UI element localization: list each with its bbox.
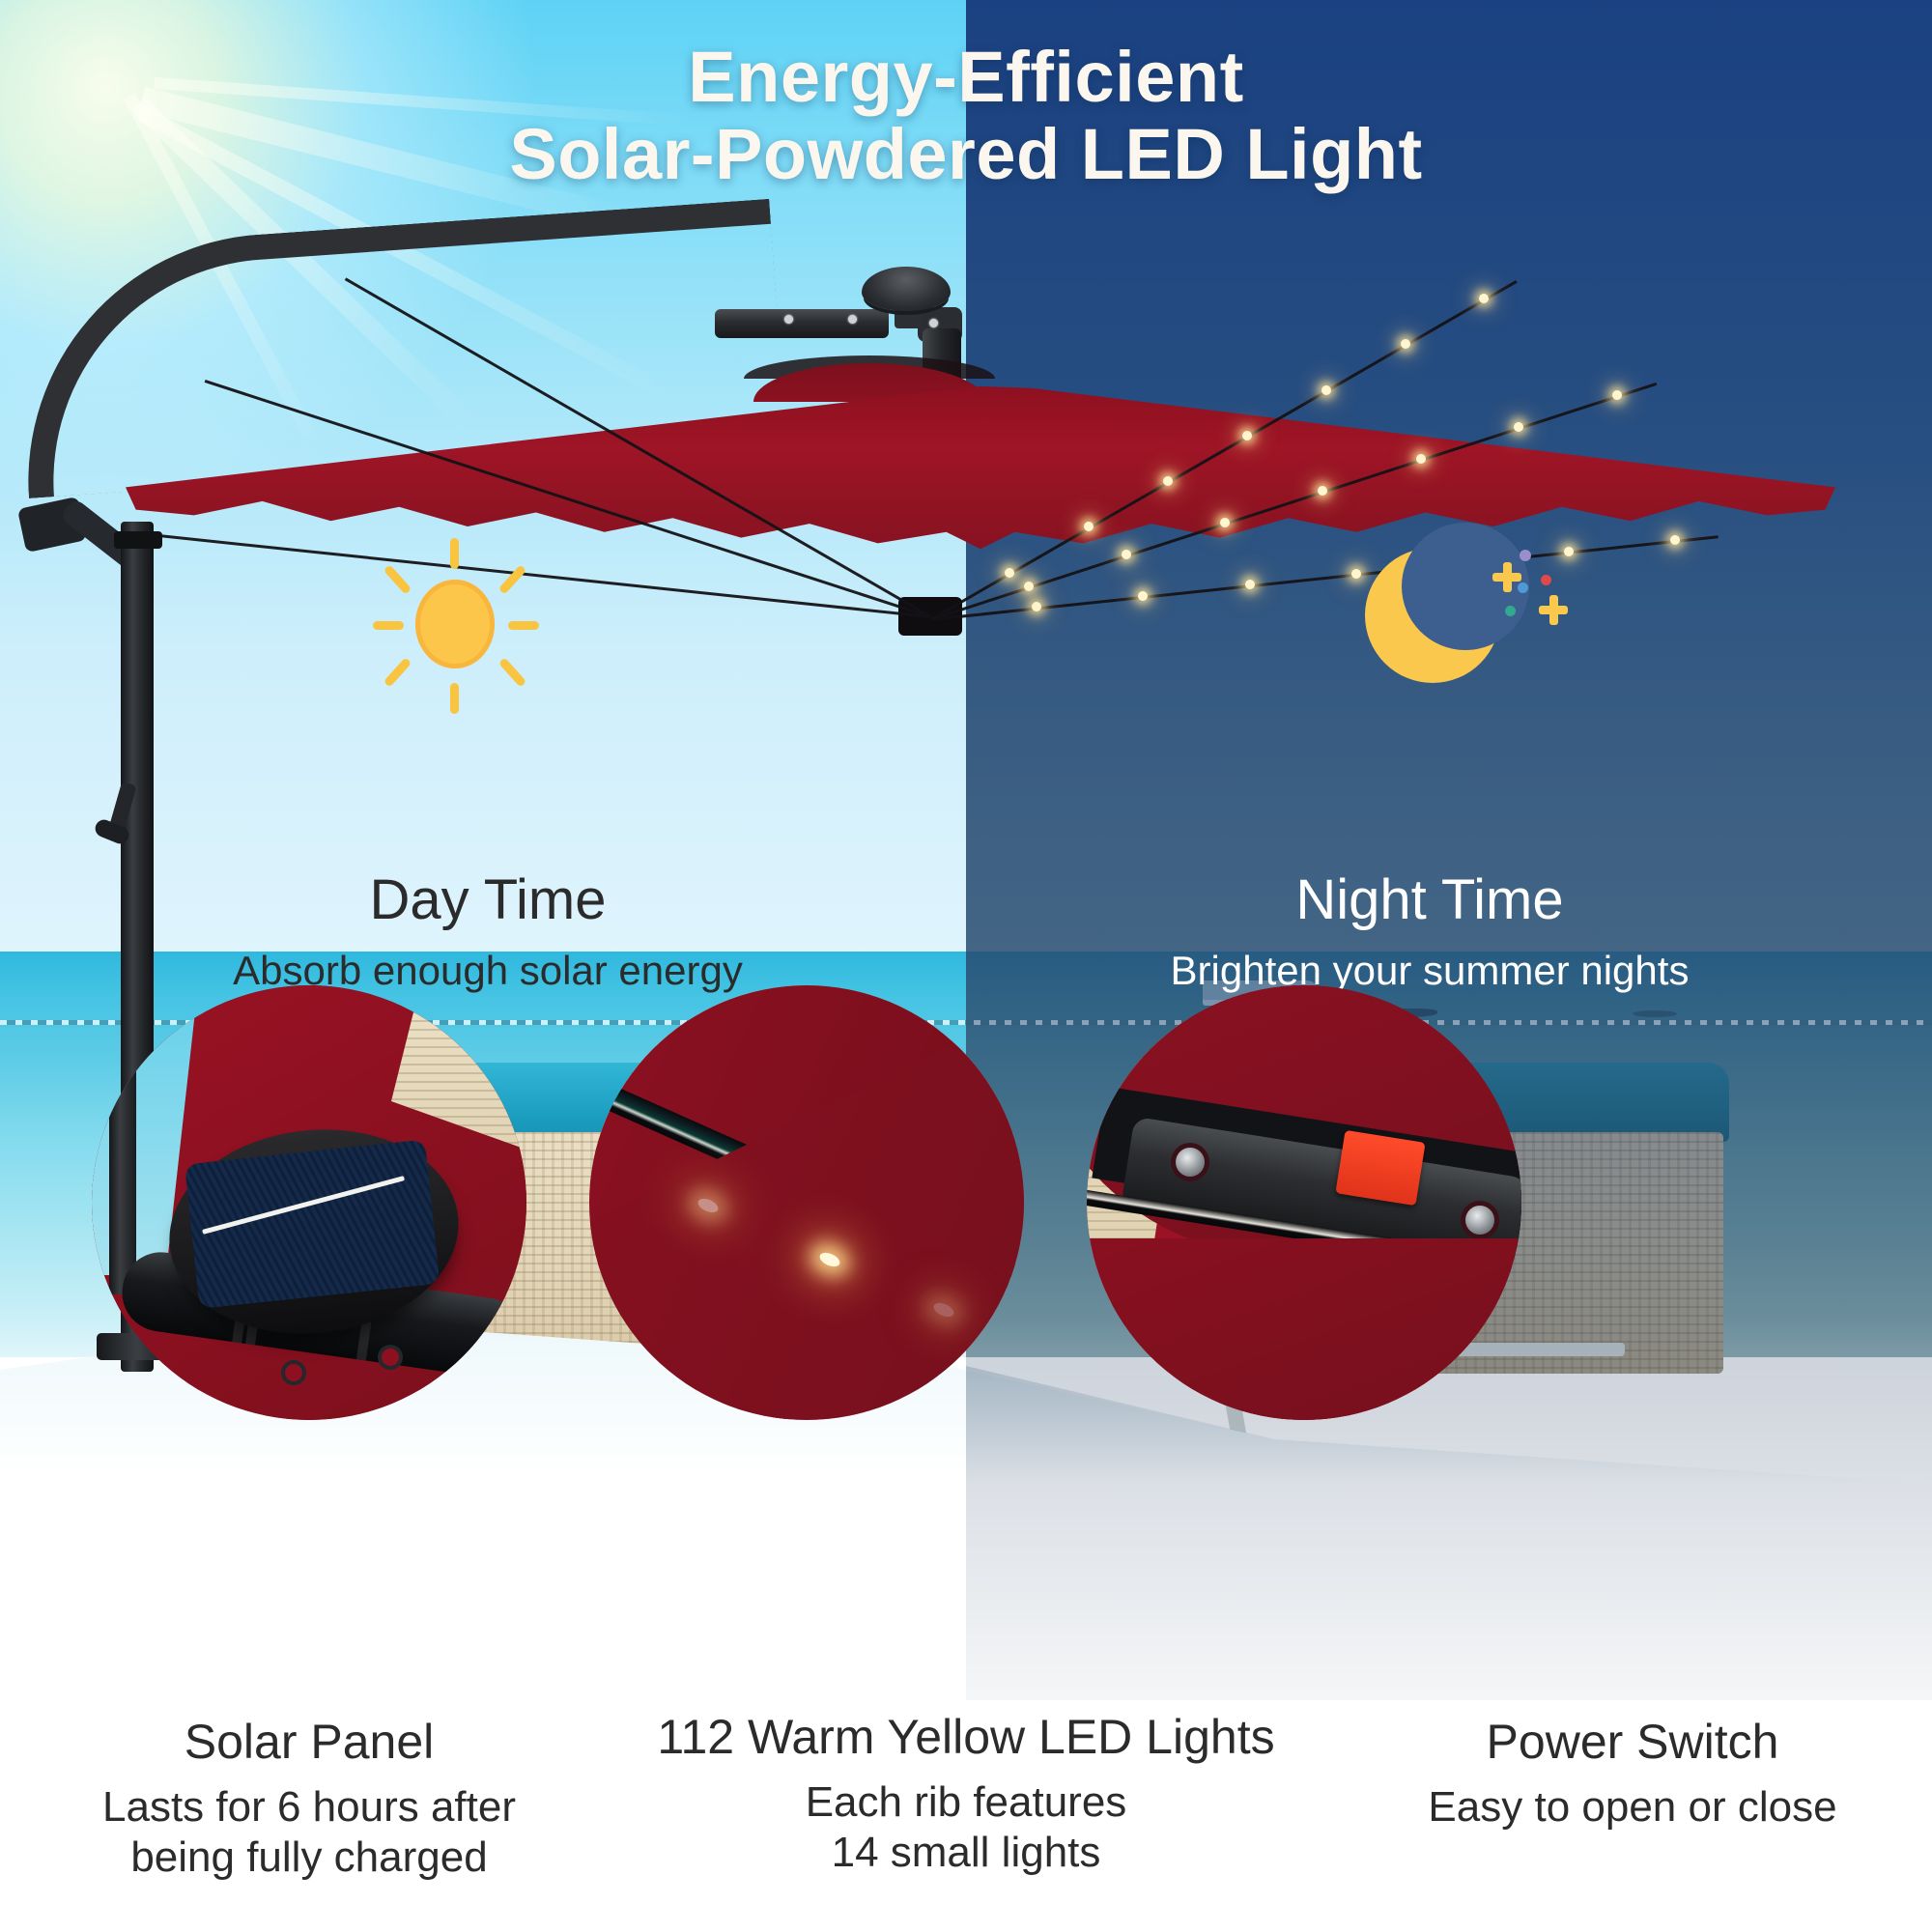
sun-ray — [384, 564, 412, 594]
led-light — [1005, 568, 1014, 578]
led-light — [1612, 390, 1622, 400]
sparkle-icon — [1503, 562, 1512, 592]
caption-subline-1: Each rib features — [599, 1777, 1333, 1828]
caption-led-lights: 112 Warm Yellow LED Lights Each rib feat… — [599, 1710, 1333, 1878]
sun-ray — [384, 657, 412, 687]
canopy-lower — [1087, 1238, 1521, 1420]
led-light — [1479, 294, 1489, 303]
title-line-2: Solar-Powdered LED Light — [0, 116, 1932, 193]
night-time-block: Night Time Brighten your summer nights — [1092, 869, 1768, 995]
caption-subline-1: Lasts for 6 hours after — [19, 1782, 599, 1833]
led-strip-photo — [589, 985, 1024, 1420]
scene-photo — [0, 0, 1932, 1700]
led-light — [1401, 339, 1410, 349]
screw-icon — [929, 319, 938, 327]
led-light — [1245, 580, 1255, 589]
page-title: Energy-Efficient Solar-Powdered LED Ligh… — [0, 39, 1932, 193]
led-light — [1024, 582, 1034, 591]
solar-panel-top-icon — [862, 267, 951, 311]
caption-solar-panel: Solar Panel Lasts for 6 hours after bein… — [19, 1715, 599, 1883]
caption-subline-1: Easy to open or close — [1343, 1782, 1922, 1833]
star-dot — [1541, 575, 1551, 585]
sun-ray — [373, 621, 404, 630]
sun-ray — [508, 621, 539, 630]
star-dot — [1518, 582, 1528, 593]
caption-subline-2: 14 small lights — [599, 1828, 1333, 1878]
caption-heading: 112 Warm Yellow LED Lights — [599, 1710, 1333, 1764]
sun-ray — [450, 538, 459, 569]
title-line-1: Energy-Efficient — [688, 37, 1243, 117]
day-time-block: Day Time Absorb enough solar energy — [150, 869, 826, 995]
solar-panel-photo — [92, 985, 526, 1420]
top-horizontal-bar — [715, 309, 889, 338]
crank-handle — [93, 782, 156, 866]
caption-heading: Power Switch — [1343, 1715, 1922, 1769]
product-infographic: Energy-Efficient Solar-Powdered LED Ligh… — [0, 0, 1932, 1932]
caption-subline-2: being fully charged — [19, 1833, 599, 1883]
sun-icon — [367, 536, 541, 710]
day-time-heading: Day Time — [150, 869, 826, 931]
screw-icon — [848, 315, 857, 324]
screw-icon — [1176, 1148, 1205, 1177]
sparkle-icon — [1549, 595, 1558, 625]
sun-ray — [498, 657, 526, 687]
moon-icon — [1348, 526, 1589, 710]
night-time-heading: Night Time — [1092, 869, 1768, 931]
led-light — [1242, 431, 1252, 440]
led-light — [1220, 518, 1230, 527]
star-dot — [1505, 606, 1516, 616]
umbrella-pole — [109, 985, 136, 1294]
power-switch-photo — [1087, 985, 1521, 1420]
screw-icon — [382, 1349, 399, 1366]
led-light — [1163, 476, 1173, 486]
screw-icon — [285, 1364, 302, 1381]
caption-power-switch: Power Switch Easy to open or close — [1343, 1715, 1922, 1833]
sun-ray — [498, 564, 526, 594]
sun-ray — [450, 683, 459, 714]
led-light — [1416, 454, 1426, 464]
screw-icon — [1465, 1206, 1494, 1235]
sun-core — [415, 580, 495, 668]
led-light — [1321, 385, 1331, 395]
screw-icon — [784, 315, 793, 324]
small-boat — [1633, 1010, 1677, 1017]
power-switch-button[interactable] — [1335, 1130, 1425, 1206]
star-dot — [1520, 550, 1531, 561]
caption-heading: Solar Panel — [19, 1715, 599, 1769]
